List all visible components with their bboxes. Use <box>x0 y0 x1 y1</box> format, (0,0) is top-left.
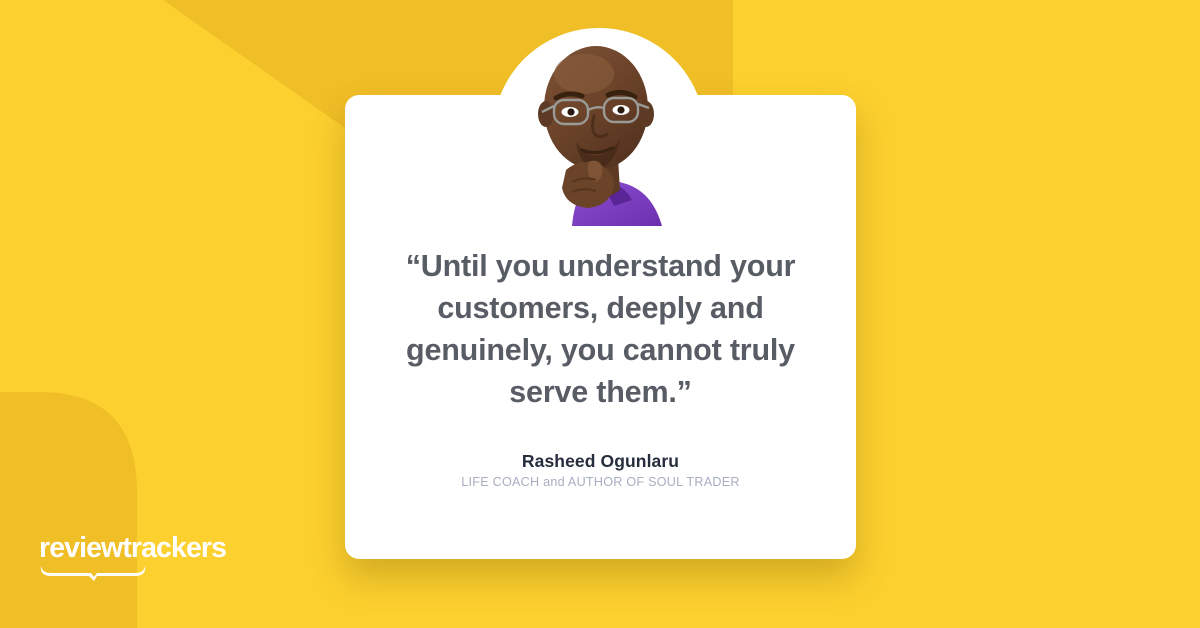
bottom-left-rounded-block <box>0 392 137 628</box>
logo-wordmark: reviewtrackers <box>39 533 269 563</box>
attribution-block: Rasheed Ogunlaru LIFE COACH and AUTHOR O… <box>345 450 856 491</box>
portrait-pupil-left <box>567 108 574 115</box>
author-role: LIFE COACH and AUTHOR OF SOUL TRADER <box>345 474 856 491</box>
quote-text: “Until you understand your customers, de… <box>381 245 820 413</box>
author-name: Rasheed Ogunlaru <box>345 450 856 472</box>
quote-graphic: “Until you understand your customers, de… <box>0 0 1200 628</box>
portrait-forehead-highlight <box>554 54 614 94</box>
author-portrait <box>502 30 698 226</box>
speech-bubble-underline-icon <box>39 565 147 582</box>
portrait-ear-left <box>538 101 554 127</box>
author-portrait-photo-icon <box>502 30 698 226</box>
reviewtrackers-logo[interactable]: reviewtrackers <box>39 533 269 582</box>
portrait-pupil-right <box>617 106 624 113</box>
